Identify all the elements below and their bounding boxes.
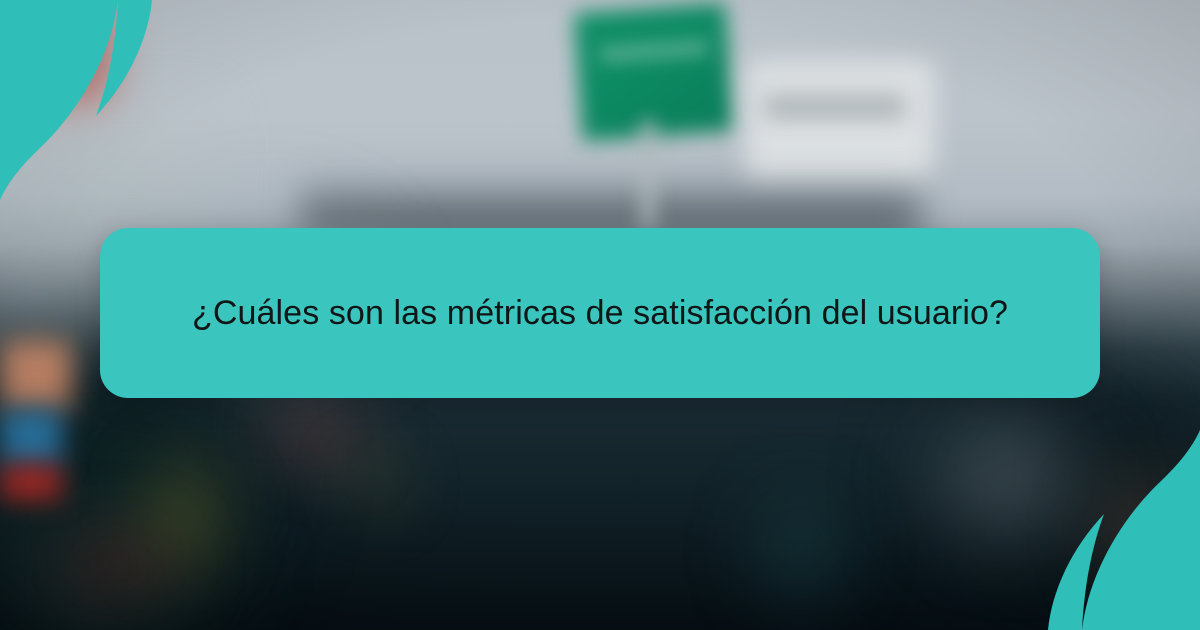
share-card-canvas: ¿Cuáles son las métricas de satisfacción… — [0, 0, 1200, 630]
question-card: ¿Cuáles son las métricas de satisfacción… — [100, 228, 1100, 398]
question-text: ¿Cuáles son las métricas de satisfacción… — [158, 287, 1042, 340]
